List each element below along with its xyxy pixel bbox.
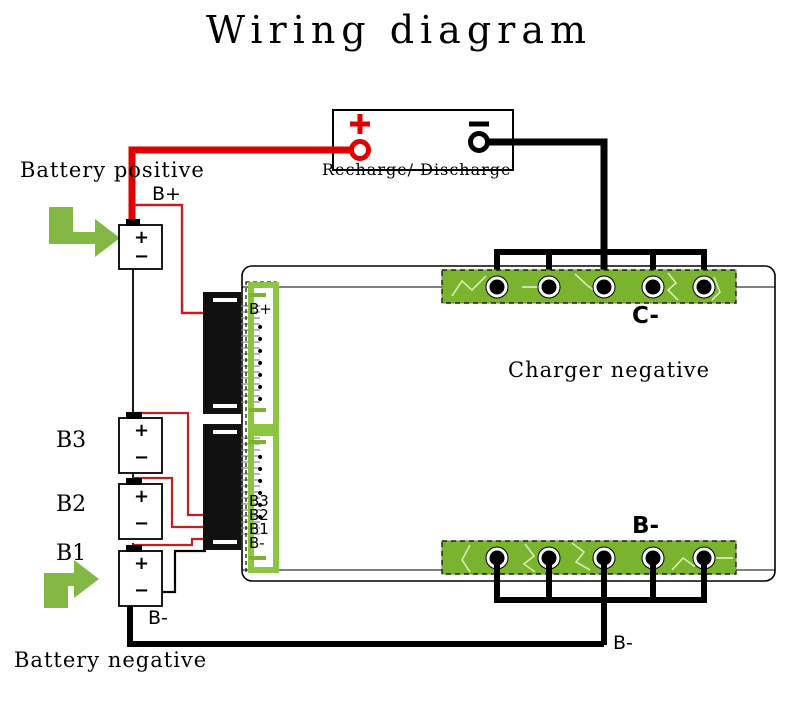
c-minus-pad-label: C- (632, 303, 659, 329)
wiring-diagram-canvas: Wiring diagram (0, 0, 798, 705)
cell-b2-minus: − (134, 513, 149, 534)
cell-b3-plus: + (134, 420, 149, 441)
balance-wire-b1 (133, 539, 206, 545)
connector-pin-b-minus: B- (249, 534, 265, 552)
cell-label-b1: B1 (56, 541, 86, 566)
b-minus-cell-label: B- (148, 607, 168, 629)
battery-negative-label: Battery negative (14, 648, 207, 672)
cell-label-b2: B2 (56, 492, 86, 517)
diagram-svg (0, 0, 798, 705)
recharge-discharge-label: Recharge/ Discharge (322, 160, 511, 179)
cell-b1-minus: − (134, 580, 149, 601)
b-minus-bus-label: B- (613, 632, 633, 654)
charger-negative-label: Charger negative (508, 358, 710, 382)
cell-top-plus: + (134, 227, 149, 248)
cell-b1-plus: + (134, 553, 149, 574)
b-minus-pad-label: B- (632, 513, 659, 539)
cell-b3-minus: − (134, 447, 149, 468)
battery-positive-arrow (49, 207, 120, 257)
b-plus-node-label: B+ (152, 183, 181, 205)
battery-positive-label: Battery positive (20, 158, 205, 182)
connector-pin-b-plus: B+ (249, 300, 272, 318)
battery-negative-arrow (44, 560, 99, 608)
cell-b2-plus: + (134, 486, 149, 507)
load-negative-terminal[interactable] (471, 134, 488, 151)
connector-dots-top: •• •• •• • (256, 322, 268, 406)
cell-label-b3: B3 (56, 428, 86, 453)
battery-negative-wire (130, 588, 604, 644)
cell-top-minus: − (134, 246, 149, 267)
load-positive-terminal[interactable] (352, 142, 369, 159)
bms-board-outline (242, 266, 775, 581)
